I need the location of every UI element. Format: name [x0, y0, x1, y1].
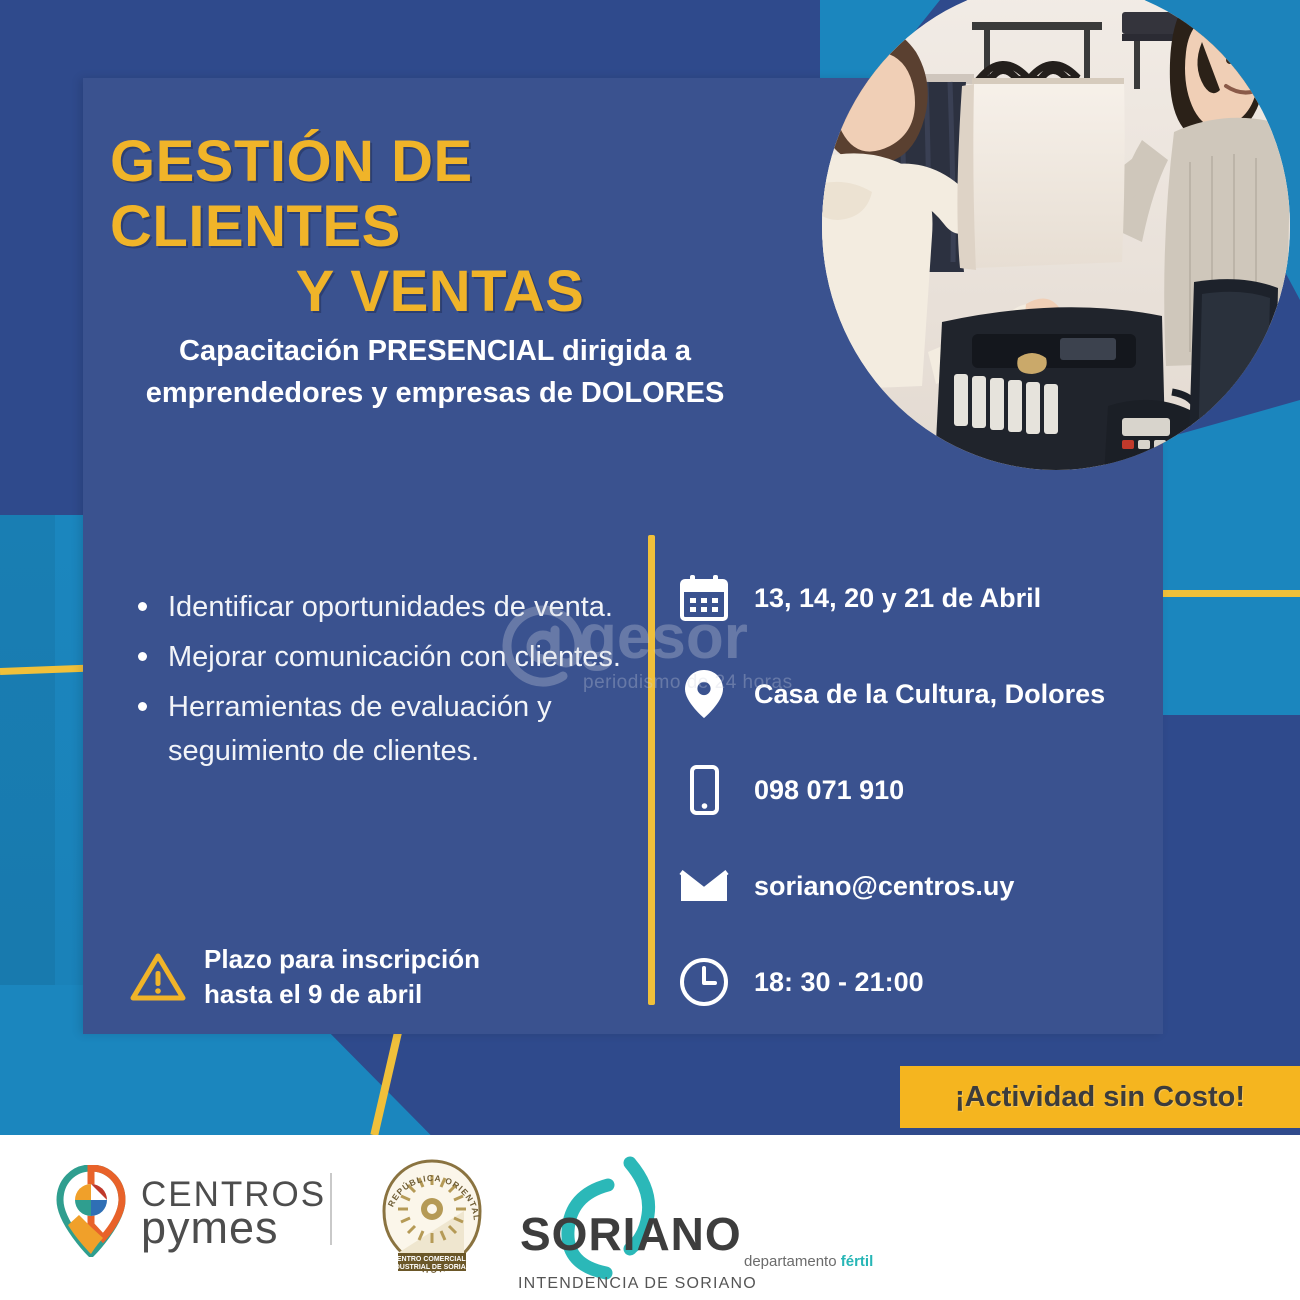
deadline-line-2: hasta el 9 de abril — [204, 979, 422, 1009]
location-pin-icon — [676, 666, 732, 722]
registration-deadline: Plazo para inscripción hasta el 9 de abr… — [130, 942, 610, 1012]
free-activity-badge: ¡Actividad sin Costo! — [900, 1066, 1300, 1128]
event-details: 13, 14, 20 y 21 de Abril Casa de la Cult… — [676, 570, 1146, 1050]
list-item-label: Herramientas de evaluación y seguimiento… — [168, 691, 552, 767]
title-line-2: Y VENTAS — [110, 260, 770, 325]
logo-soriano: SORIANO departamento fértil INTENDENCIA … — [512, 1155, 732, 1285]
mobile-phone-icon — [676, 762, 732, 818]
page-subtitle: Capacitación PRESENCIAL dirigida a empre… — [100, 330, 770, 414]
centros-pymes-wordmark: CENTROS pymes — [141, 1179, 326, 1249]
detail-email-label: soriano@centros.uy — [754, 871, 1014, 902]
title-line-1: GESTIÓN DE CLIENTES — [110, 129, 473, 259]
page-title: GESTIÓN DE CLIENTES Y VENTAS — [110, 130, 770, 325]
list-item: Mejorar comunicación con clientes. — [126, 635, 636, 679]
detail-date-label: 13, 14, 20 y 21 de Abril — [754, 583, 1041, 614]
envelope-icon — [676, 858, 732, 914]
detail-time-label: 18: 30 - 21:00 — [754, 967, 924, 998]
footer-divider — [330, 1173, 332, 1245]
detail-row-time: 18: 30 - 21:00 — [676, 954, 1146, 1010]
seal-caption-2: INDUSTRIAL DE SORIANO — [388, 1264, 477, 1271]
clock-icon — [676, 954, 732, 1010]
flyer-canvas: GESTIÓN DE CLIENTES Y VENTAS Capacitació… — [0, 0, 1300, 1300]
detail-phone-label: 098 071 910 — [754, 775, 904, 806]
detail-row-phone: 098 071 910 — [676, 762, 1146, 818]
calendar-icon — [676, 570, 732, 626]
detail-row-email: soriano@centros.uy — [676, 858, 1146, 914]
list-item: Herramientas de evaluación y seguimiento… — [126, 685, 636, 773]
list-item-label: Identificar oportunidades de venta. — [168, 591, 613, 623]
column-divider — [648, 535, 655, 1005]
hero-photo — [822, 0, 1290, 470]
footer-bar: CENTROS pymes — [0, 1135, 1300, 1300]
list-item: Identificar oportunidades de venta. — [126, 585, 636, 629]
subtitle-line-1: Capacitación PRESENCIAL dirigida a — [179, 335, 691, 367]
detail-row-date: 13, 14, 20 y 21 de Abril — [676, 570, 1146, 626]
soriano-tagline: departamento fértil — [744, 1253, 873, 1270]
benefits-list: Identificar oportunidades de venta. Mejo… — [126, 585, 636, 779]
subtitle-line-2: emprendedores y empresas de DOLORES — [146, 377, 725, 409]
soriano-wordmark: SORIANO — [520, 1207, 742, 1261]
deadline-text: Plazo para inscripción hasta el 9 de abr… — [204, 942, 480, 1012]
deadline-line-1: Plazo para inscripción — [204, 944, 480, 974]
logo-centro-comercial-soriano: REPÚBLICA ORIENTAL DEL URUGUAY CENTRO CO… — [372, 1157, 492, 1282]
soriano-institution: INTENDENCIA DE SORIANO — [518, 1275, 757, 1293]
free-activity-label: ¡Actividad sin Costo! — [955, 1081, 1245, 1114]
soriano-tagline-prefix: departamento — [744, 1253, 841, 1270]
list-item-label: Mejorar comunicación con clientes. — [168, 641, 621, 673]
soriano-tagline-accent: fértil — [841, 1253, 874, 1270]
detail-row-location: Casa de la Cultura, Dolores — [676, 666, 1146, 722]
centros-pymes-pin-icon — [55, 1165, 127, 1262]
warning-triangle-icon — [130, 951, 186, 1003]
detail-location-label: Casa de la Cultura, Dolores — [754, 679, 1105, 710]
seal-caption-1: CENTRO COMERCIAL E — [392, 1256, 473, 1263]
logo-centros-pymes: CENTROS pymes — [55, 1165, 326, 1262]
